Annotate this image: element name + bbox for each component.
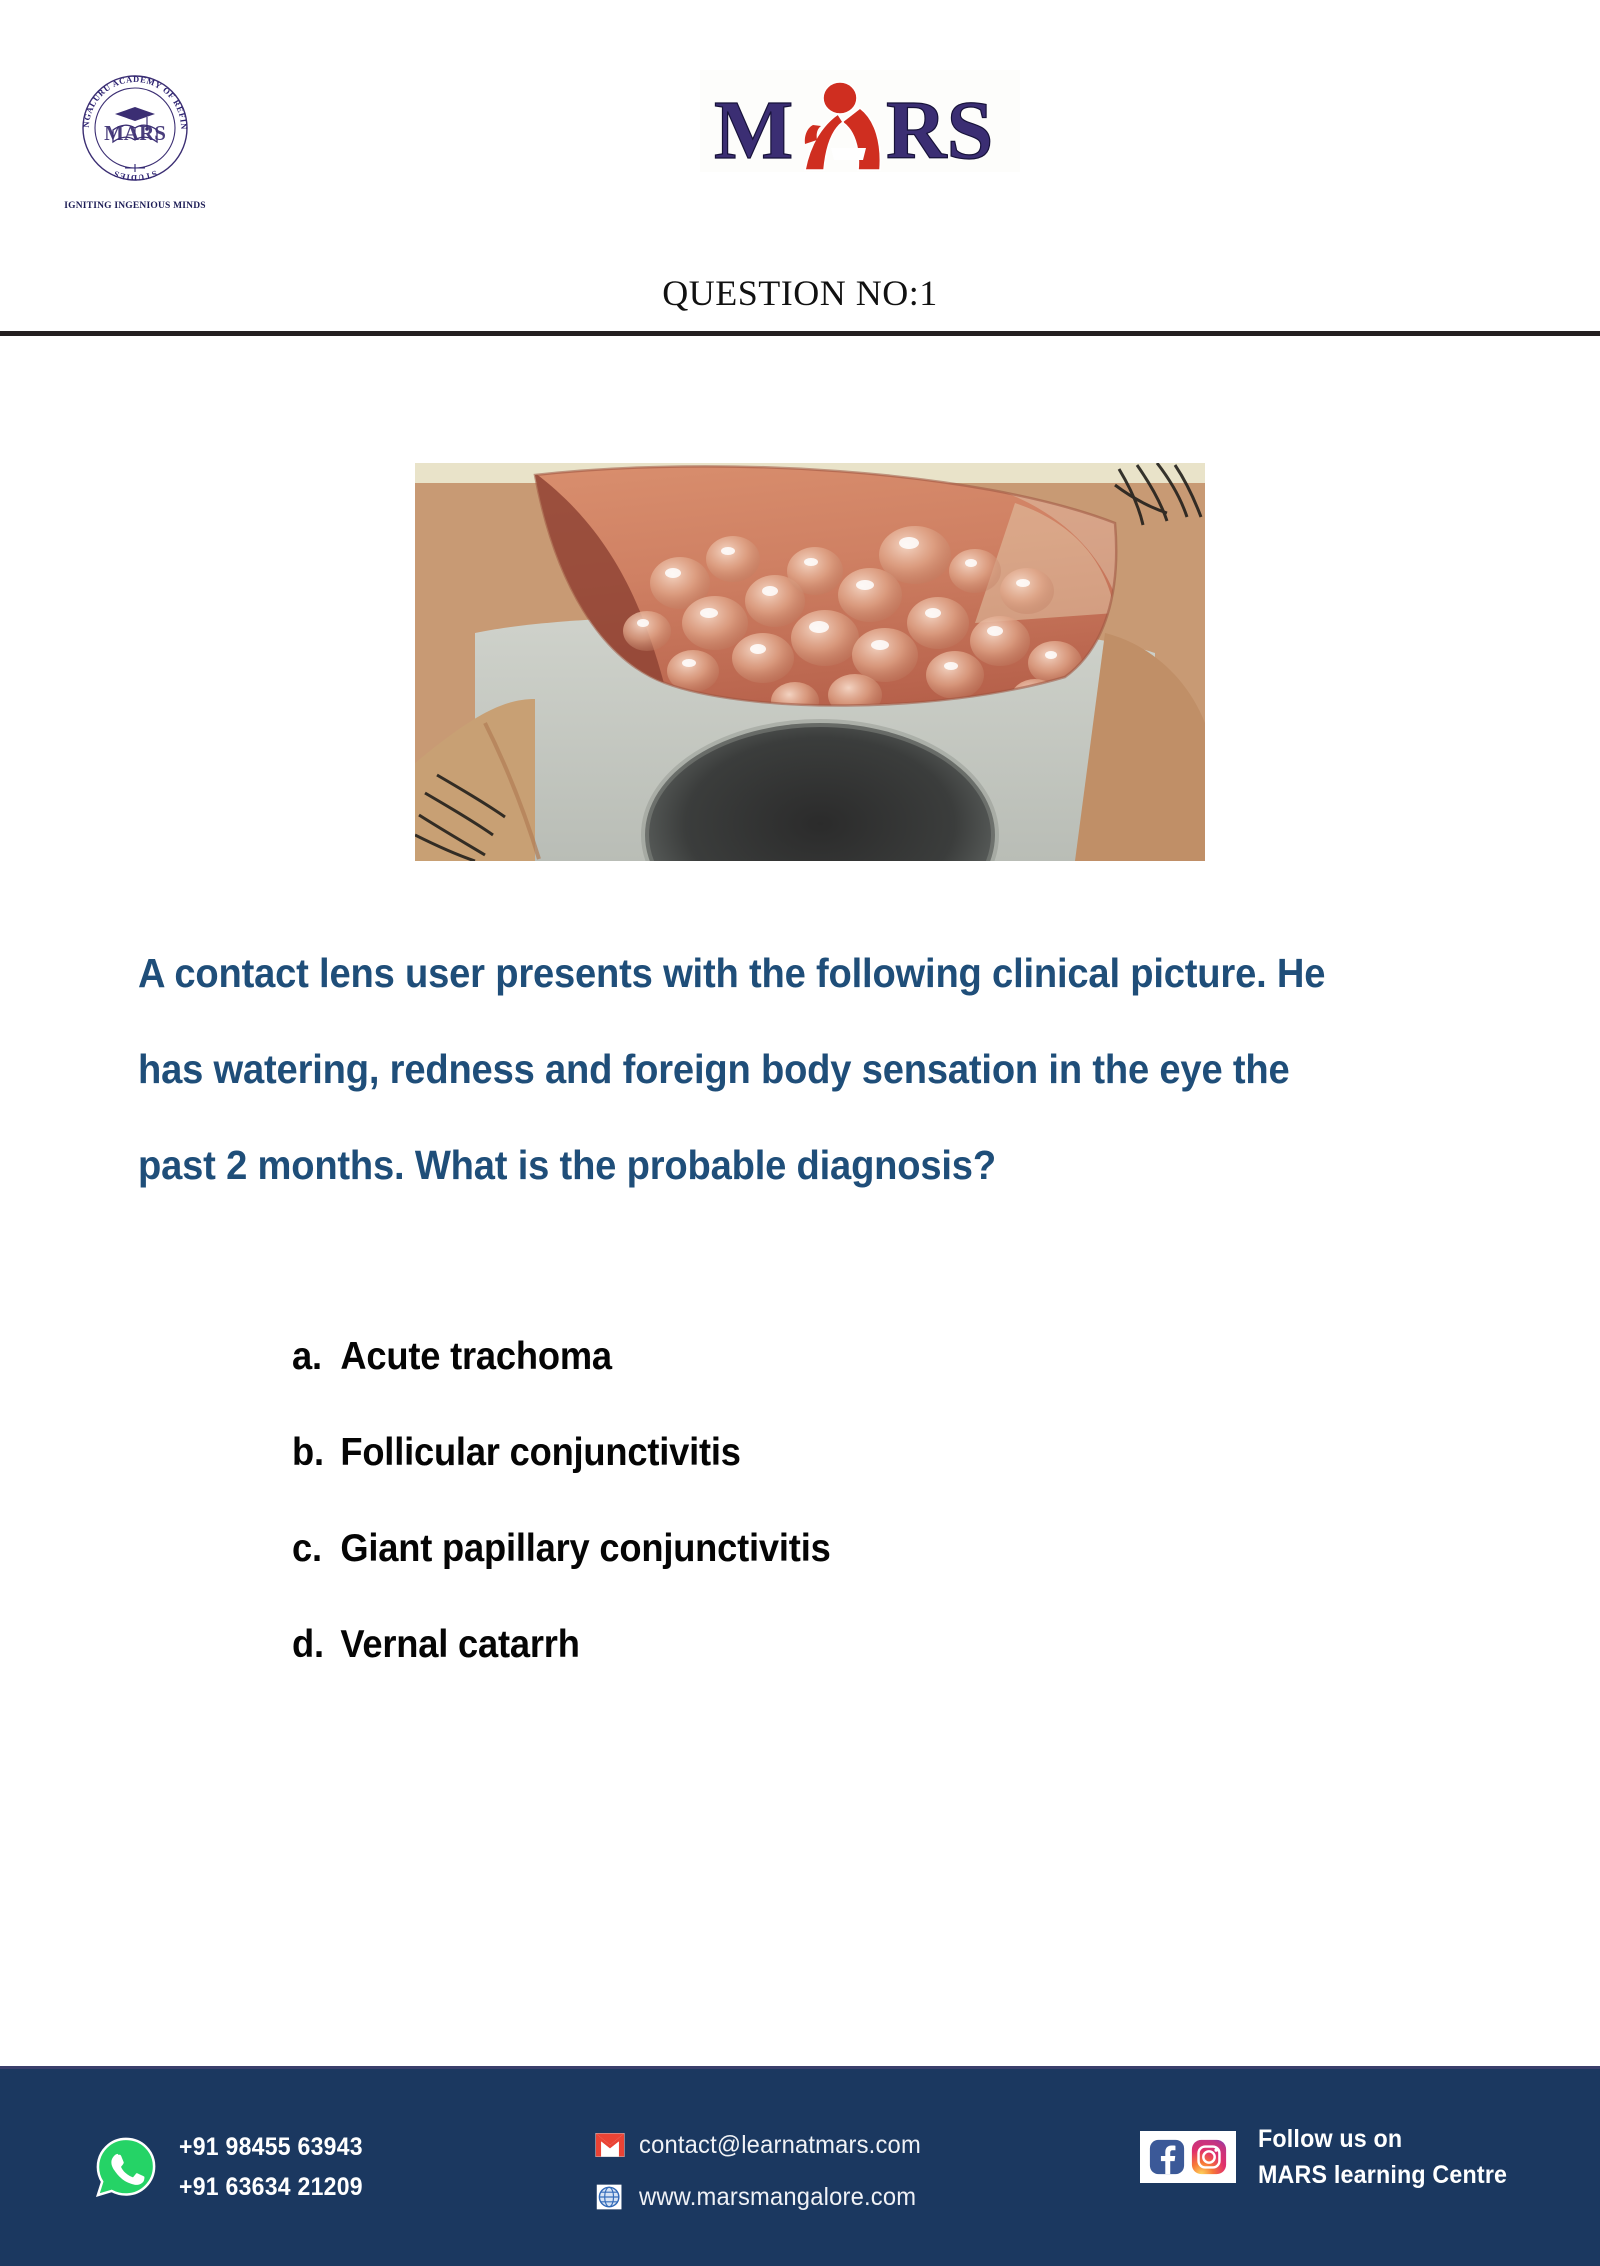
question-text: A contact lens user presents with the fo… bbox=[138, 925, 1375, 1213]
option-d[interactable]: d. Vernal catarrh bbox=[292, 1623, 1315, 1719]
option-c-letter: c. bbox=[292, 1527, 340, 1571]
phone-numbers: +91 98455 63943 +91 63634 21209 bbox=[179, 2127, 363, 2207]
option-b[interactable]: b. Follicular conjunctivitis bbox=[292, 1431, 1315, 1527]
svg-text:RS: RS bbox=[886, 84, 993, 172]
svg-text:M: M bbox=[714, 84, 793, 172]
social-line-1: Follow us on bbox=[1258, 2121, 1507, 2157]
social-icons-badge bbox=[1140, 2131, 1236, 2183]
eye-papillae-illustration bbox=[415, 463, 1205, 861]
whatsapp-icon[interactable] bbox=[95, 2136, 157, 2198]
mars-logo: M RS bbox=[700, 70, 1020, 172]
page-header: MANGALURU ACADEMY OF REFINED STUDIES MAR… bbox=[0, 0, 1600, 336]
option-a[interactable]: a. Acute trachoma bbox=[292, 1335, 1315, 1431]
footer-contact-group: contact@learnatmars.com www.marsmangalor… bbox=[595, 2119, 936, 2223]
social-text: Follow us on MARS learning Centre bbox=[1258, 2121, 1507, 2193]
option-c[interactable]: c. Giant papillary conjunctivitis bbox=[292, 1527, 1315, 1623]
website-row[interactable]: www.marsmangalore.com bbox=[595, 2171, 936, 2223]
option-b-letter: b. bbox=[292, 1431, 340, 1475]
website-text: www.marsmangalore.com bbox=[639, 2183, 916, 2212]
option-a-text: Acute trachoma bbox=[340, 1335, 612, 1379]
page-footer: +91 98455 63943 +91 63634 21209 contact@… bbox=[0, 2066, 1600, 2266]
footer-social-group: Follow us on MARS learning Centre bbox=[1140, 2121, 1526, 2193]
clinical-photo bbox=[415, 463, 1205, 861]
facebook-icon[interactable] bbox=[1148, 2138, 1186, 2176]
emblem-seal-icon: MANGALURU ACADEMY OF REFINED STUDIES MAR… bbox=[75, 68, 195, 188]
social-line-2: MARS learning Centre bbox=[1258, 2157, 1507, 2193]
option-a-letter: a. bbox=[292, 1335, 340, 1379]
option-c-text: Giant papillary conjunctivitis bbox=[340, 1527, 830, 1571]
answer-options-list: a. Acute trachoma b. Follicular conjunct… bbox=[292, 1335, 1392, 1719]
instagram-icon[interactable] bbox=[1190, 2138, 1228, 2176]
globe-icon bbox=[595, 2184, 625, 2210]
svg-text:MARS: MARS bbox=[104, 121, 166, 145]
phone-1[interactable]: +91 98455 63943 bbox=[179, 2127, 363, 2167]
email-text: contact@learnatmars.com bbox=[639, 2131, 921, 2160]
header-divider bbox=[0, 331, 1600, 336]
email-row[interactable]: contact@learnatmars.com bbox=[595, 2119, 936, 2171]
gmail-icon bbox=[595, 2132, 625, 2158]
page-title: QUESTION NO:1 bbox=[0, 272, 1600, 314]
option-d-text: Vernal catarrh bbox=[340, 1623, 579, 1667]
emblem-tagline: IGNITING INGENIOUS MINDS bbox=[55, 201, 215, 211]
academy-emblem: MANGALURU ACADEMY OF REFINED STUDIES MAR… bbox=[55, 68, 215, 218]
option-d-letter: d. bbox=[292, 1623, 340, 1667]
option-b-text: Follicular conjunctivitis bbox=[340, 1431, 740, 1475]
footer-phone-group: +91 98455 63943 +91 63634 21209 bbox=[95, 2127, 379, 2207]
phone-2[interactable]: +91 63634 21209 bbox=[179, 2167, 363, 2207]
mars-wordmark-icon: M RS bbox=[700, 70, 1020, 172]
